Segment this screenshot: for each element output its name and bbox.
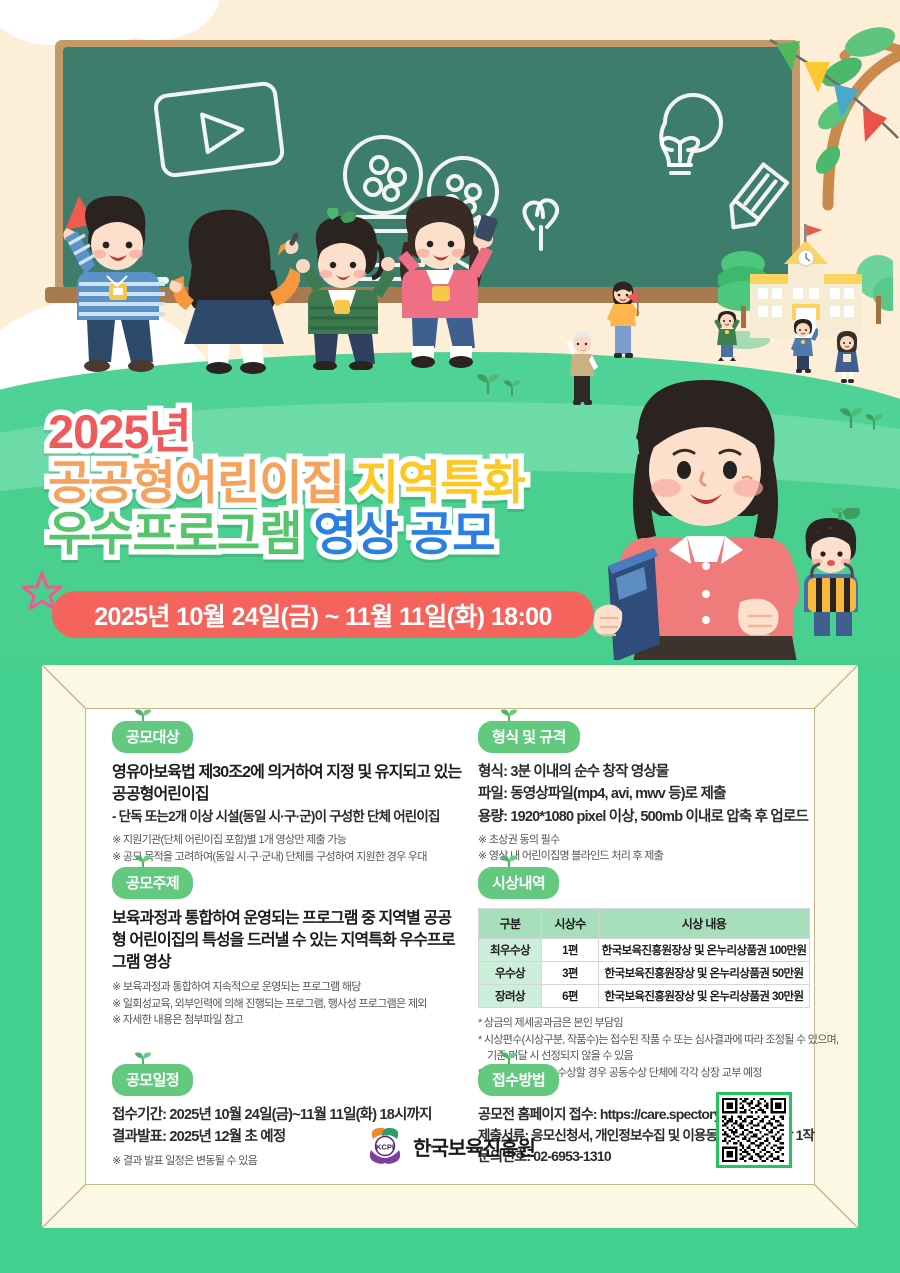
badge-wrap-apply: 접수방법	[478, 1064, 559, 1096]
section-topic: 공모주제 보육과정과 통합하여 운영되는 프로그램 중 지역별 공공형 어린이집…	[112, 867, 462, 1029]
child-drawing-on-board	[168, 196, 300, 374]
title-line-3: 우수프로그램 영상 공모	[48, 510, 688, 557]
note-line: ※ 일회성교육, 외부인력에 의해 진행되는 프로그램, 행사성 프로그램은 제…	[112, 996, 462, 1013]
title-seg: 지역특화	[344, 456, 525, 509]
sprout-icon	[864, 412, 884, 430]
submission-date-bar: 2025년 10월 24일(금) ~ 11월 11일(화) 18:00	[52, 591, 594, 638]
section-badge-apply: 접수방법	[478, 1064, 559, 1096]
cell-count: 6편	[542, 985, 599, 1008]
cell-detail: 한국보육진흥원장상 및 온누리상품권 50만원	[599, 962, 810, 985]
topic-lead: 보육과정과 통합하여 운영되는 프로그램 중 지역별 공공형 어린이집의 특성을…	[112, 908, 462, 974]
note-line: ※ 보육과정과 통합하여 지속적으로 운영되는 프로그램 해당	[112, 979, 462, 996]
section-target: 공모대상 영유아보육법 제30조2에 의거하여 지정 및 유지되고 있는 공공형…	[112, 721, 462, 865]
person-with-flag	[603, 276, 645, 361]
title-seg: 2025년	[48, 405, 191, 458]
note-line: ※ 영상 내 어린이집명 블라인드 처리 후 제출	[478, 848, 814, 865]
note-line: ※ 지원기관(단체 어린이집 포함)별 1개 영상만 제출 가능	[112, 832, 462, 849]
format-line-2: 파일: 동영상파일(mp4, avi, mwv 등)로 제출	[478, 784, 814, 804]
child-pink-with-phone	[382, 190, 502, 370]
card-inner-panel: 공모대상 영유아보육법 제30조2에 의거하여 지정 및 유지되고 있는 공공형…	[86, 709, 814, 1184]
cell-detail: 한국보육진흥원장상 및 온누리상품권 30만원	[599, 985, 810, 1008]
section-badge-target: 공모대상	[112, 721, 193, 753]
section-badge-prizes: 시상내역	[478, 867, 559, 899]
title-seg: 우수프로그램	[48, 507, 301, 560]
qr-code[interactable]	[716, 1092, 792, 1168]
target-lead: 영유아보육법 제30조2에 의거하여 지정 및 유지되고 있는 공공형어린이집	[112, 762, 462, 806]
title-seg: 공공형어린이집	[48, 456, 344, 509]
note-line: ※ 자세한 내용은 첨부파일 참고	[112, 1012, 462, 1029]
table-row: 장려상 6편 한국보육진흥원장상 및 온누리상품권 30만원	[479, 985, 810, 1008]
info-card: 공모대상 영유아보육법 제30조2에 의거하여 지정 및 유지되고 있는 공공형…	[42, 665, 858, 1228]
cell-group: 우수상	[479, 962, 542, 985]
table-header-row: 구분 시상수 시상 내용	[479, 909, 810, 939]
topic-notes: ※ 보육과정과 통합하여 지속적으로 운영되는 프로그램 해당 ※ 일회성교육,…	[112, 979, 462, 1029]
card-columns: 공모대상 영유아보육법 제30조2에 의거하여 지정 및 유지되고 있는 공공형…	[86, 709, 814, 1184]
sprout-icon	[838, 406, 864, 428]
note-line: 기준 미달 시 선정되지 않을 수 있음	[478, 1048, 814, 1065]
sprout-icon	[475, 372, 501, 394]
cell-detail: 한국보육진흥원장상 및 온누리상품권 100만원	[599, 939, 810, 962]
section-format: 형식 및 규격 형식: 3분 이내의 순수 창작 영상물 파일: 동영상파일(m…	[478, 721, 814, 865]
badge-wrap-prizes: 시상내역	[478, 867, 559, 899]
note-line: ※ 초상권 동의 필수	[478, 832, 814, 849]
sprout-icon	[502, 378, 522, 396]
prize-table: 구분 시상수 시상 내용 최우수상 1편 한국보육진흥원장상 및 온누리상품권 …	[478, 908, 810, 1008]
date-text: 2025년 10월 24일(금) ~ 11월 11일(화) 18:00	[94, 597, 552, 633]
cell-group: 장려상	[479, 985, 542, 1008]
qr-code-icon	[722, 1098, 786, 1162]
illustration-scene	[0, 0, 900, 660]
table-row: 최우수상 1편 한국보육진흥원장상 및 온누리상품권 100만원	[479, 939, 810, 962]
footer-logo: KCPI 한국보육진흥원	[86, 1126, 814, 1166]
schedule-line-1: 접수기간: 2025년 10월 24일(금)~11월 11일(화) 18시까지	[112, 1105, 462, 1125]
target-sub: - 단독 또는2개 이상 시설(동일 시·구·군)이 구성한 단체 어린이집	[112, 808, 462, 827]
note-line: * 시상편수(시상구분, 작품수)는 접수된 작품 수 또는 심사결과에 따라 …	[478, 1032, 814, 1049]
kcpi-logo-icon: KCPI	[365, 1126, 405, 1166]
section-prizes: 시상내역 구분 시상수 시상 내용 최우수상	[478, 867, 814, 1081]
title-line-2: 공공형어린이집 지역특화	[48, 459, 688, 506]
table-row: 우수상 3편 한국보육진흥원장상 및 온누리상품권 50만원	[479, 962, 810, 985]
badge-wrap-topic: 공모주제	[112, 867, 193, 899]
col-header-count: 시상수	[542, 909, 599, 939]
poster-root: 2025년 공공형어린이집 지역특화 우수프로그램 영상 공모 2025년 10…	[0, 0, 900, 1273]
title-seg: 영상 공모	[301, 507, 494, 560]
child-blue-stripes	[55, 192, 185, 372]
badge-wrap-schedule: 공모일정	[112, 1064, 193, 1096]
format-line-3: 용량: 1920*1080 pixel 이상, 500mb 이내로 압축 후 업…	[478, 807, 814, 827]
cell-count: 3편	[542, 962, 599, 985]
section-badge-topic: 공모주제	[112, 867, 193, 899]
section-badge-format: 형식 및 규격	[478, 721, 580, 753]
target-notes: ※ 지원기관(단체 어린이집 포함)별 1개 영상만 제출 가능 ※ 공모 목적…	[112, 832, 462, 865]
note-line: ※ 공모 목적을 고려하여(동일 시·구·군내) 단체를 구성하여 지원한 경우…	[112, 849, 462, 866]
title-line-1: 2025년	[48, 408, 688, 455]
poster-title: 2025년 공공형어린이집 지역특화 우수프로그램 영상 공모	[48, 408, 688, 557]
cell-group: 최우수상	[479, 939, 542, 962]
col-header-group: 구분	[479, 909, 542, 939]
badge-wrap-format: 형식 및 규격	[478, 721, 580, 753]
organization-name: 한국보육진흥원	[413, 1132, 535, 1161]
col-header-detail: 시상 내용	[599, 909, 810, 939]
format-notes: ※ 초상권 동의 필수 ※ 영상 내 어린이집명 블라인드 처리 후 제출	[478, 832, 814, 865]
jumping-child	[712, 310, 742, 362]
cell-count: 1편	[542, 939, 599, 962]
bunting-flags-icon	[330, 30, 900, 160]
waving-boy	[788, 318, 818, 376]
section-badge-schedule: 공모일정	[112, 1064, 193, 1096]
format-line-1: 형식: 3분 이내의 순수 창작 영상물	[478, 762, 814, 782]
kcpi-logo-text: KCPI	[376, 1143, 394, 1152]
badge-wrap-target: 공모대상	[112, 721, 193, 753]
note-line: * 상금의 제세공과금은 본인 부담임	[478, 1015, 814, 1032]
